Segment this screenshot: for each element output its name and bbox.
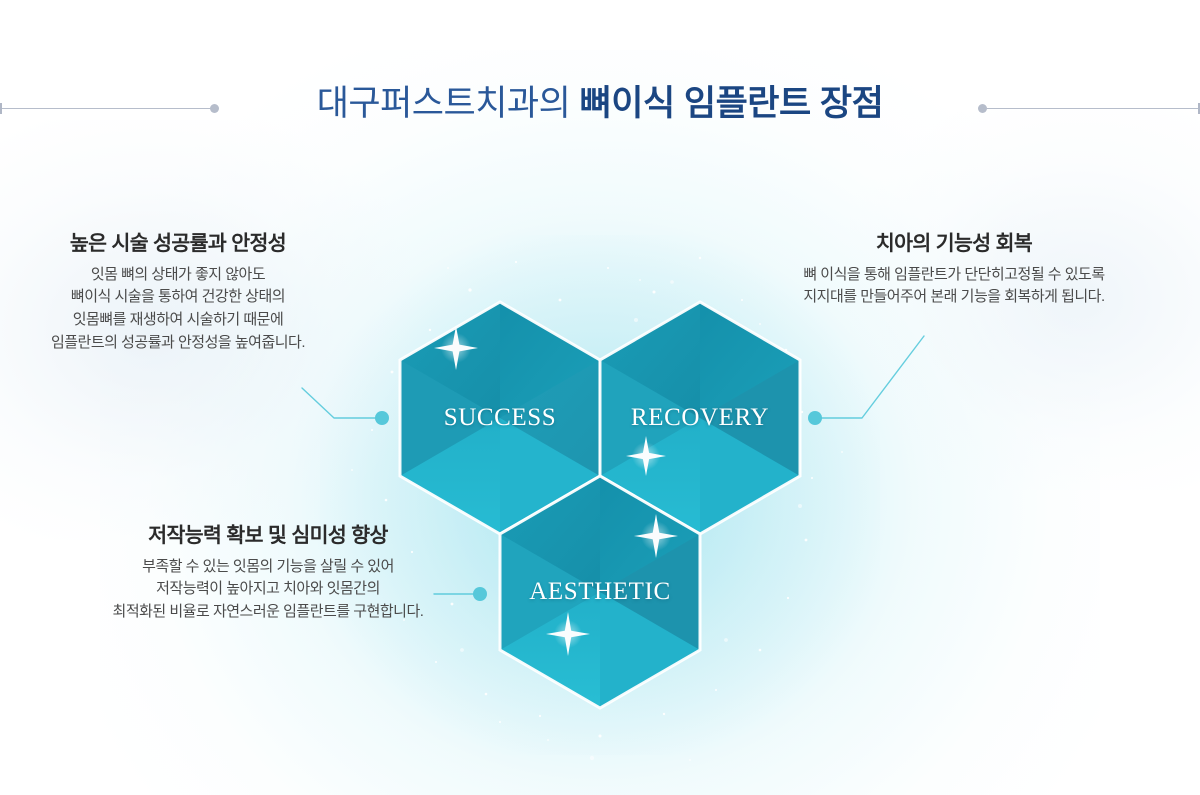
infographic-canvas: 대구퍼스트치과의 뼈이식 임플란트 장점: [0, 0, 1200, 795]
body-aesthetic: 부족할 수 있는 잇몸의 기능을 살릴 수 있어 저작능력이 높아지고 치아와 …: [78, 556, 458, 624]
connector-dot-recovery: [808, 411, 822, 425]
body-success-line-1: 잇몸 뼈의 상태가 좋지 않아도: [0, 264, 356, 287]
body-aesthetic-line-2: 저작능력이 높아지고 치아와 잇몸간의: [78, 578, 458, 601]
connector-recovery: [806, 326, 936, 430]
connector-success: [298, 382, 408, 432]
body-success-line-2: 뼈이식 시술을 통하여 건강한 상태의: [0, 286, 356, 309]
rule-dot-right: [978, 104, 987, 113]
heading-success: 높은 시술 성공률과 안정성: [0, 232, 356, 257]
connector-dot-success: [375, 411, 389, 425]
heading-recovery: 치아의 기능성 회복: [744, 232, 1164, 257]
heading-aesthetic: 저작능력 확보 및 심미성 향상: [78, 524, 458, 549]
hexagon-aesthetic[interactable]: AESTHETIC: [498, 474, 702, 710]
body-success: 잇몸 뼈의 상태가 좋지 않아도 뼈이식 시술을 통하여 건강한 상태의 잇몸뼈…: [0, 264, 356, 355]
text-block-recovery: 치아의 기능성 회복 뼈 이식을 통해 임플란트가 단단히고정될 수 있도록 지…: [744, 232, 1164, 309]
page-title-emphasis: 뼈이식 임플란트 장점: [580, 84, 884, 123]
body-recovery: 뼈 이식을 통해 임플란트가 단단히고정될 수 있도록 지지대를 만들어주어 본…: [744, 264, 1164, 310]
connector-dot-aesthetic: [473, 587, 487, 601]
rule-bar-right: [987, 108, 1198, 109]
body-success-line-3: 잇몸뼈를 재생하여 시술하기 때문에: [0, 309, 356, 332]
text-block-success: 높은 시술 성공률과 안정성 잇몸 뼈의 상태가 좋지 않아도 뼈이식 시술을 …: [0, 232, 356, 355]
body-aesthetic-line-1: 부족할 수 있는 잇몸의 기능을 살릴 수 있어: [78, 556, 458, 579]
title-rule-right: [978, 103, 1200, 114]
body-success-line-4: 임플란트의 성공률과 안정성을 높여줍니다.: [0, 332, 356, 355]
body-recovery-line-2: 지지대를 만들어주어 본래 기능을 회복하게 됩니다.: [744, 286, 1164, 309]
page-title-prefix: 대구퍼스트치과의: [317, 84, 571, 123]
body-aesthetic-line-3: 최적화된 비율로 자연스러운 임플란트를 구현합니다.: [78, 601, 458, 624]
body-recovery-line-1: 뼈 이식을 통해 임플란트가 단단히고정될 수 있도록: [744, 264, 1164, 287]
text-block-aesthetic: 저작능력 확보 및 심미성 향상 부족할 수 있는 잇몸의 기능을 살릴 수 있…: [78, 524, 458, 624]
